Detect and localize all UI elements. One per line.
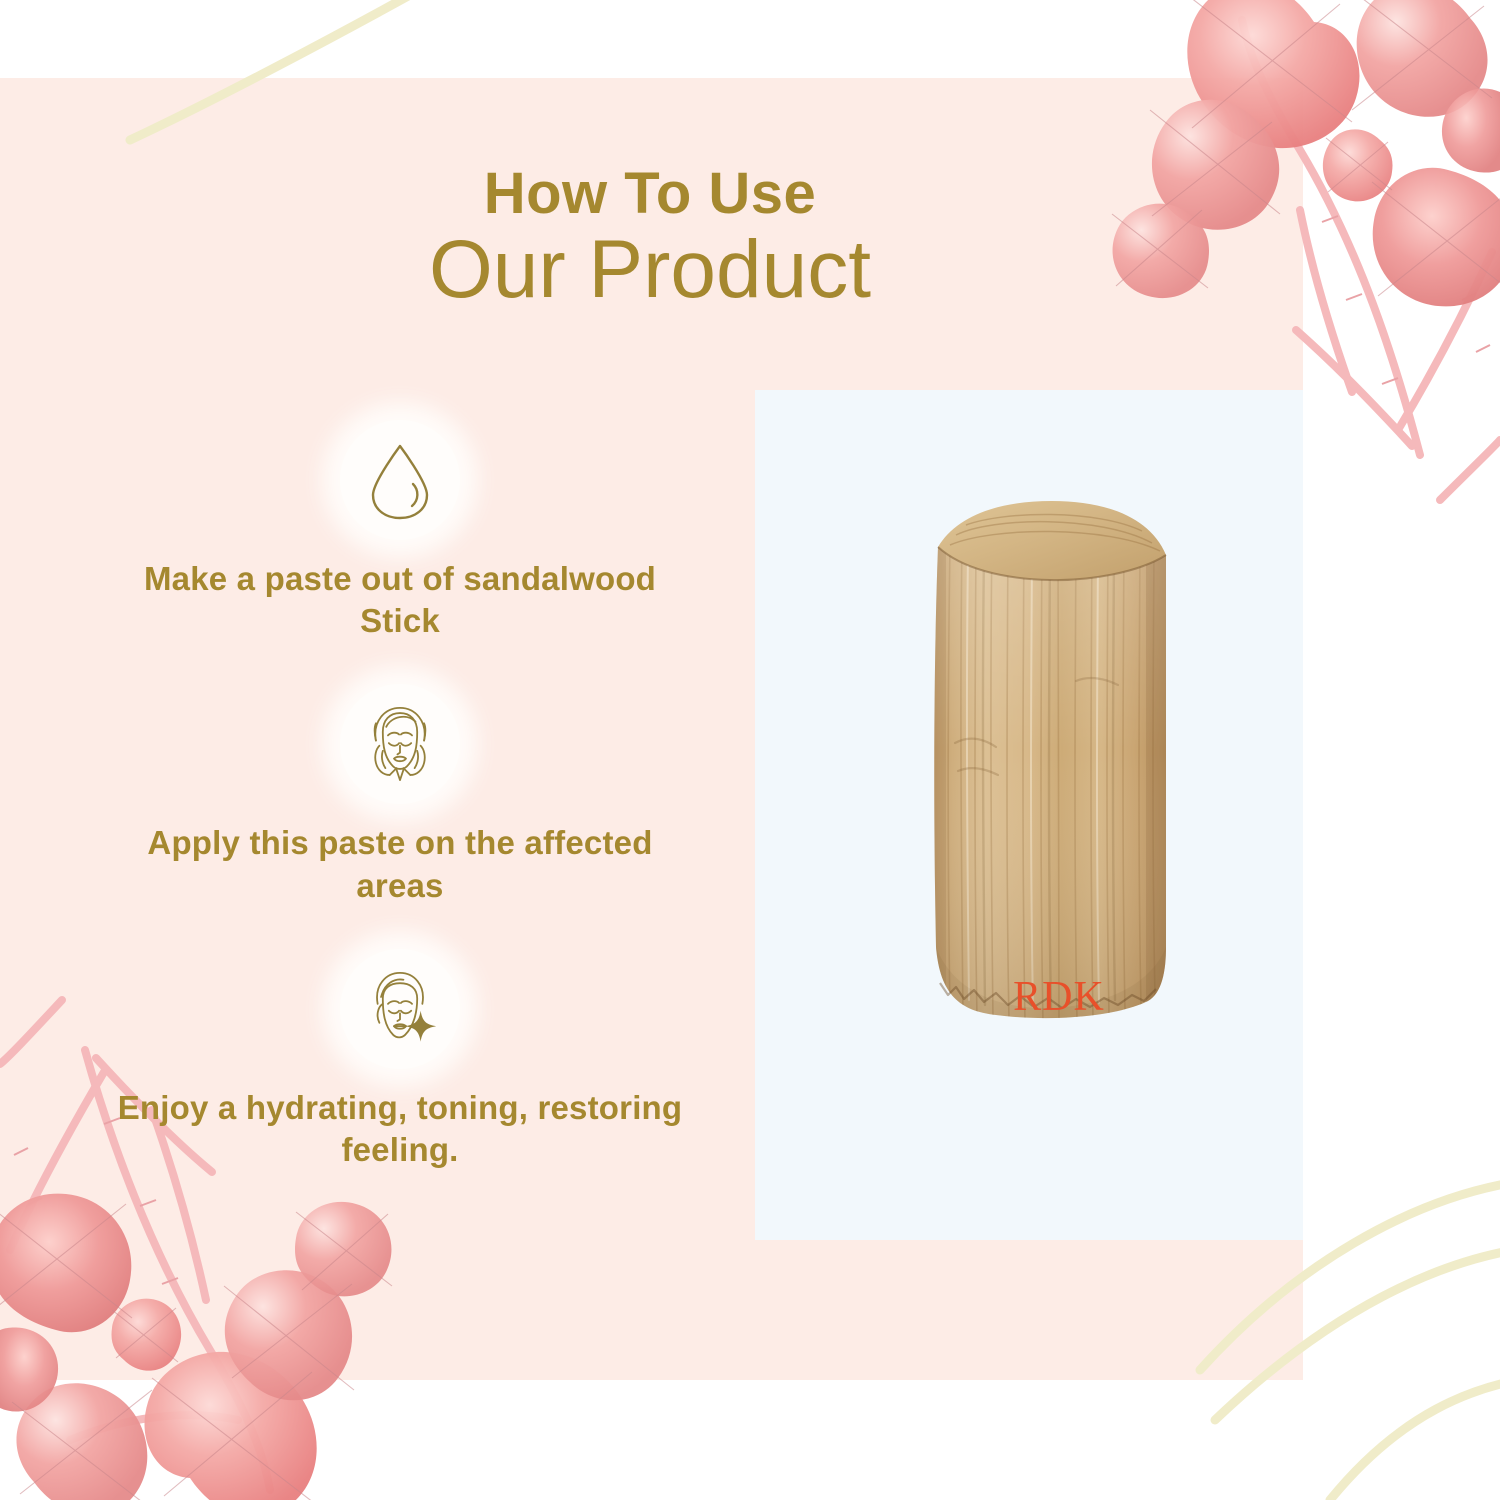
glowing-face-icon [357,966,443,1052]
step-item-2: Apply this paste on the affected areas [95,684,705,906]
steps-list: Make a paste out of sandalwood Stick [95,420,705,1171]
face-massage-icon [357,701,443,787]
water-drop-icon [365,440,435,520]
step-icon-badge-2 [340,684,460,804]
step-item-3: Enjoy a hydrating, toning, restoring fee… [95,949,705,1171]
step-icon-badge-1 [340,420,460,540]
step-label-3: Enjoy a hydrating, toning, restoring fee… [95,1087,705,1171]
page-title-line1: How To Use [0,165,1300,223]
step-icon-badge-3 [340,949,460,1069]
page-title-block: How To Use Our Product [0,165,1300,311]
infographic-canvas: RDK [0,0,1500,1500]
page-title-line2: Our Product [0,229,1300,311]
brand-mark-rdk: RDK [909,973,1209,1021]
step-label-1: Make a paste out of sandalwood Stick [95,558,705,642]
sandalwood-stick-image: RDK [900,495,1200,1065]
step-label-2: Apply this paste on the affected areas [95,822,705,906]
step-item-1: Make a paste out of sandalwood Stick [95,420,705,642]
